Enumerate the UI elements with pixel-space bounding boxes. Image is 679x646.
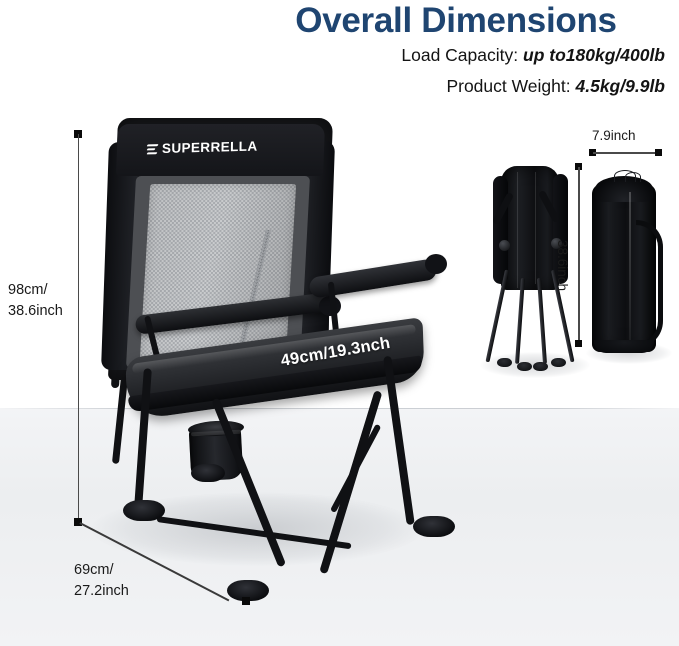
carry-bag-drawstring-cord-2 (625, 172, 641, 182)
depth-dimension-label: 69cm/ 27.2inch (74, 560, 129, 601)
chair-lower-brace (157, 516, 352, 549)
spec-product-weight-value: 4.5kg/9.9lb (576, 76, 666, 96)
folded-height-label: 38.6inch (553, 240, 572, 291)
folded-chair-foot-left (497, 358, 512, 367)
folded-chair-wing-left (493, 176, 508, 284)
chair-side-brace-right (330, 424, 381, 513)
folded-chair-foot-mid-left (517, 362, 532, 371)
spec-load-capacity: Load Capacity: up to180kg/400lb (245, 45, 665, 66)
brand-logo: SUPERRELLA (147, 139, 258, 157)
height-dimension-imperial: 38.6inch (8, 301, 63, 322)
bag-width-label: 7.9inch (592, 126, 636, 145)
folded-chair-foot-mid-right (533, 362, 548, 371)
folded-chair-seam-left (517, 172, 518, 288)
folded-chair-leg-inner-left (515, 278, 525, 364)
carry-bag-seam (629, 192, 631, 346)
carry-bag-shoulder-strap (636, 220, 663, 348)
chair-mesh-shading (140, 184, 296, 360)
folded-chair-hinge-left (499, 240, 510, 251)
spec-product-weight: Product Weight: 4.5kg/9.9lb (245, 76, 665, 97)
height-dimension-label: 98cm/ 38.6inch (8, 280, 63, 321)
spec-load-capacity-value: up to180kg/400lb (523, 45, 665, 65)
main-chair-illustration: SUPERRELLA (95, 118, 455, 588)
page-title: Overall Dimensions (236, 2, 676, 39)
folded-height-dimension-line (578, 167, 580, 342)
height-dimension-metric: 98cm/ (8, 280, 63, 301)
infographic-canvas: Overall Dimensions Load Capacity: up to1… (0, 0, 679, 646)
chair-armrest-right-cap (425, 254, 447, 274)
bag-width-dimension-line (593, 152, 656, 154)
folded-height-cap-bottom (575, 340, 582, 347)
bag-width-cap-right (655, 149, 662, 156)
chair-cross-leg-a (211, 398, 286, 568)
folded-chair-seam-right (535, 172, 536, 284)
depth-dimension-metric: 69cm/ (74, 560, 129, 581)
depth-dimension-imperial: 27.2inch (74, 581, 129, 602)
height-dimension-line (78, 134, 80, 522)
folded-chair-leg-inner-right (537, 278, 547, 364)
spec-product-weight-label: Product Weight: (446, 76, 570, 96)
chair-foot-rear-right (413, 516, 455, 537)
brand-logo-text: SUPERRELLA (162, 139, 258, 156)
carry-bag-base (594, 340, 654, 353)
chair-foot-front-left (123, 500, 165, 521)
brand-logo-mark-icon (147, 143, 158, 155)
carry-bag-illustration (592, 170, 664, 356)
chair-foot-rear-left (191, 464, 225, 482)
depth-dimension-cap-end (242, 597, 250, 605)
spec-load-capacity-label: Load Capacity: (401, 45, 518, 65)
folded-chair-foot-right (551, 358, 566, 367)
